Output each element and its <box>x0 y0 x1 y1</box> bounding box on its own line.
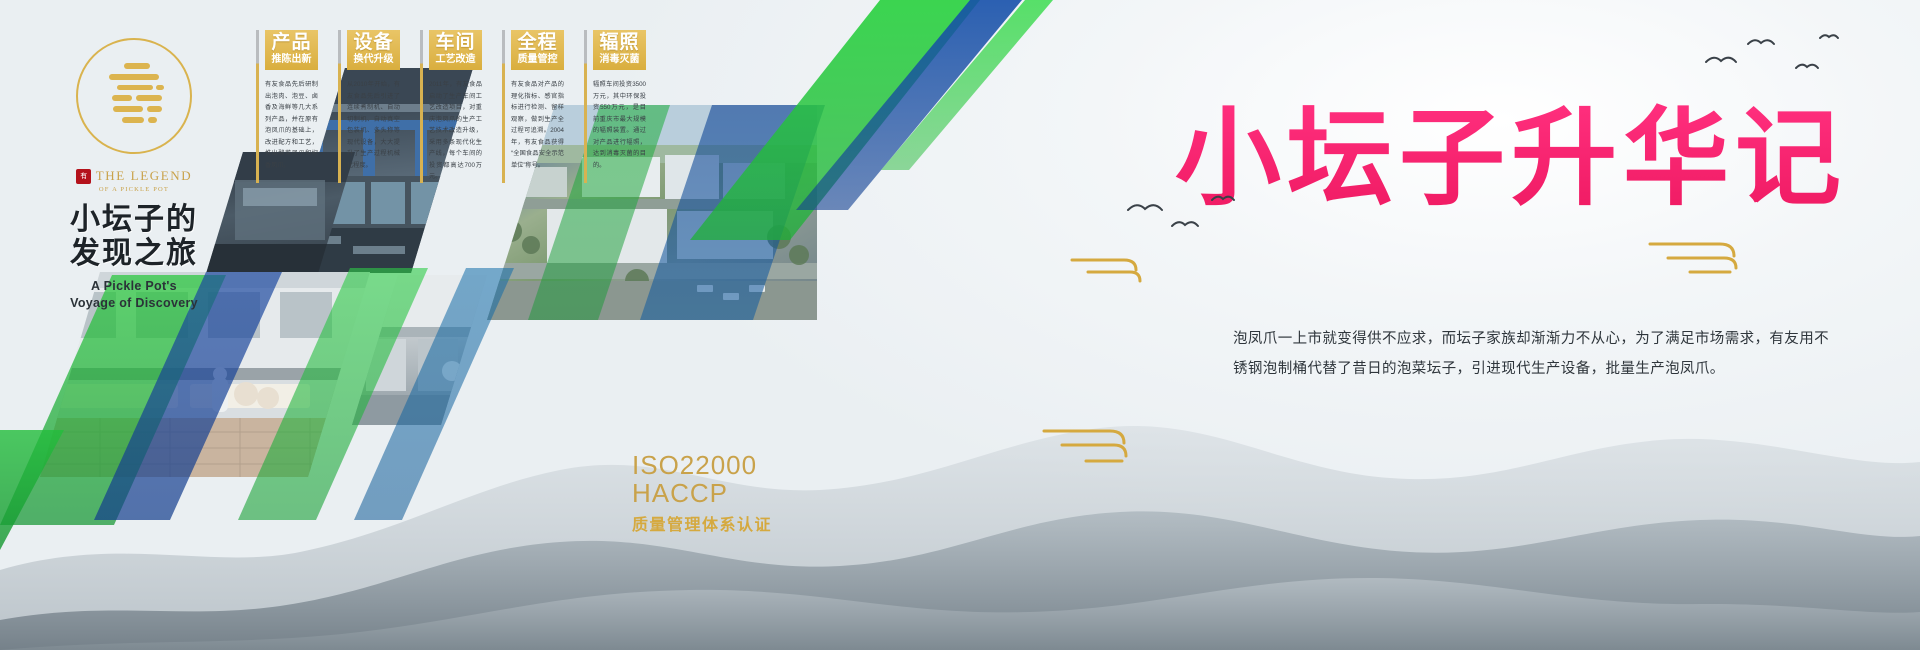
info-card-row: 产品 推陈出新 有友食品先后研制出泡肉、泡豆、卤香及海鲜等几大系列产品，并在原有… <box>256 30 646 183</box>
bird-flock-left-icon <box>1120 180 1270 240</box>
cert-haccp-line: HACCP <box>632 480 772 508</box>
gold-cloud-right-icon <box>1640 230 1790 280</box>
card-tag-main: 设备 <box>349 33 398 53</box>
card-body: 从2010年开始，有友食品先后引进了连续煮制机、自动切制机、自动真空包装机、多头… <box>347 79 400 171</box>
card-tag-sub: 换代升级 <box>349 54 398 67</box>
card-tag-main: 全程 <box>513 33 562 53</box>
gold-cloud-lower-icon <box>1030 415 1180 475</box>
cert-cn-line: 质量管理体系认证 <box>632 511 772 535</box>
hero-title-en-line1: A Pickle Pot's <box>34 278 234 295</box>
card-tag-sub: 质量管控 <box>513 54 562 67</box>
bird-flock-right-icon <box>1700 28 1850 88</box>
poster-canvas: 有 THE LEGEND OF A PICKLE POT 小坛子的 发现之旅 A… <box>0 0 1920 650</box>
info-card[interactable]: 全程 质量管控 有友食品对产品的理化指标、感官指标进行检测、留样观察，做到生产全… <box>502 30 564 183</box>
hero-title-cn-line1: 小坛子的 <box>34 203 234 237</box>
card-tag-main: 辐照 <box>595 33 644 53</box>
headline-svg: 小坛子升华记 <box>1175 95 1875 220</box>
hero-title-en-line2: Voyage of Discovery <box>34 295 234 312</box>
card-rule <box>502 30 505 183</box>
card-tag: 设备 换代升级 <box>347 30 400 70</box>
hero-title-cn: 小坛子的 发现之旅 <box>34 203 234 270</box>
info-card[interactable]: 设备 换代升级 从2010年开始，有友食品先后引进了连续煮制机、自动切制机、自动… <box>338 30 400 183</box>
gold-cloud-mid-icon <box>1064 248 1174 290</box>
cert-iso-line: ISO22000 <box>632 452 772 480</box>
info-card[interactable]: 产品 推陈出新 有友食品先后研制出泡肉、泡豆、卤香及海鲜等几大系列产品，并在原有… <box>256 30 318 183</box>
stamp-icon: 有 <box>76 169 91 184</box>
card-tag: 辐照 消毒灭菌 <box>593 30 646 70</box>
gold-cloud-dot-icon <box>1095 240 1105 250</box>
card-tag-main: 产品 <box>267 33 316 53</box>
info-card[interactable]: 车间 工艺改造 2011年，有友食品启动了生产车间工艺改造项目，对重庆泡凤爪的生… <box>420 30 482 183</box>
legend-lockup: 有 THE LEGEND <box>34 168 234 184</box>
certification-block: ISO22000 HACCP 质量管理体系认证 <box>632 452 772 535</box>
card-tag-sub: 工艺改造 <box>431 54 480 67</box>
card-rule <box>420 30 423 183</box>
card-rule <box>256 30 259 183</box>
card-tag-sub: 消毒灭菌 <box>595 54 644 67</box>
card-rule <box>338 30 341 183</box>
card-body: 有友食品对产品的理化指标、感官指标进行检测、留样观察，做到生产全过程可追溯。20… <box>511 79 564 171</box>
card-rule <box>584 30 587 183</box>
brand-block: 有 THE LEGEND OF A PICKLE POT 小坛子的 发现之旅 A… <box>34 38 234 312</box>
card-tag: 全程 质量管控 <box>511 30 564 70</box>
hero-title-en: A Pickle Pot's Voyage of Discovery <box>34 278 234 312</box>
headline-text: 小坛子升华记 <box>1175 101 1847 218</box>
hero-title-cn-line2: 发现之旅 <box>34 237 234 271</box>
card-tag: 产品 推陈出新 <box>265 30 318 70</box>
legend-sub: OF A PICKLE POT <box>34 186 234 193</box>
headline-calligraphy: 小坛子升华记 <box>1175 95 1875 220</box>
info-card[interactable]: 辐照 消毒灭菌 辐照车间投资3500万元，其中环保投资550万元，是目前重庆市最… <box>584 30 646 183</box>
card-tag-sub: 推陈出新 <box>267 54 316 67</box>
card-tag: 车间 工艺改造 <box>429 30 482 70</box>
legend-en: THE LEGEND <box>96 168 193 184</box>
body-paragraph: 泡凤爪一上市就变得供不应求，而坛子家族却渐渐力不从心，为了满足市场需求，有友用不… <box>1233 325 1841 384</box>
card-body: 辐照车间投资3500万元，其中环保投资550万元，是目前重庆市最大规模的辐照装置… <box>593 79 646 171</box>
abacus-seal-icon <box>76 38 192 154</box>
card-body: 2011年，有友食品启动了生产车间工艺改造项目，对重庆泡凤爪的生产工艺技术改造升… <box>429 79 482 182</box>
card-tag-main: 车间 <box>431 33 480 53</box>
card-body: 有友食品先后研制出泡肉、泡豆、卤香及海鲜等几大系列产品，并在原有泡凤爪的基础上，… <box>265 79 318 171</box>
